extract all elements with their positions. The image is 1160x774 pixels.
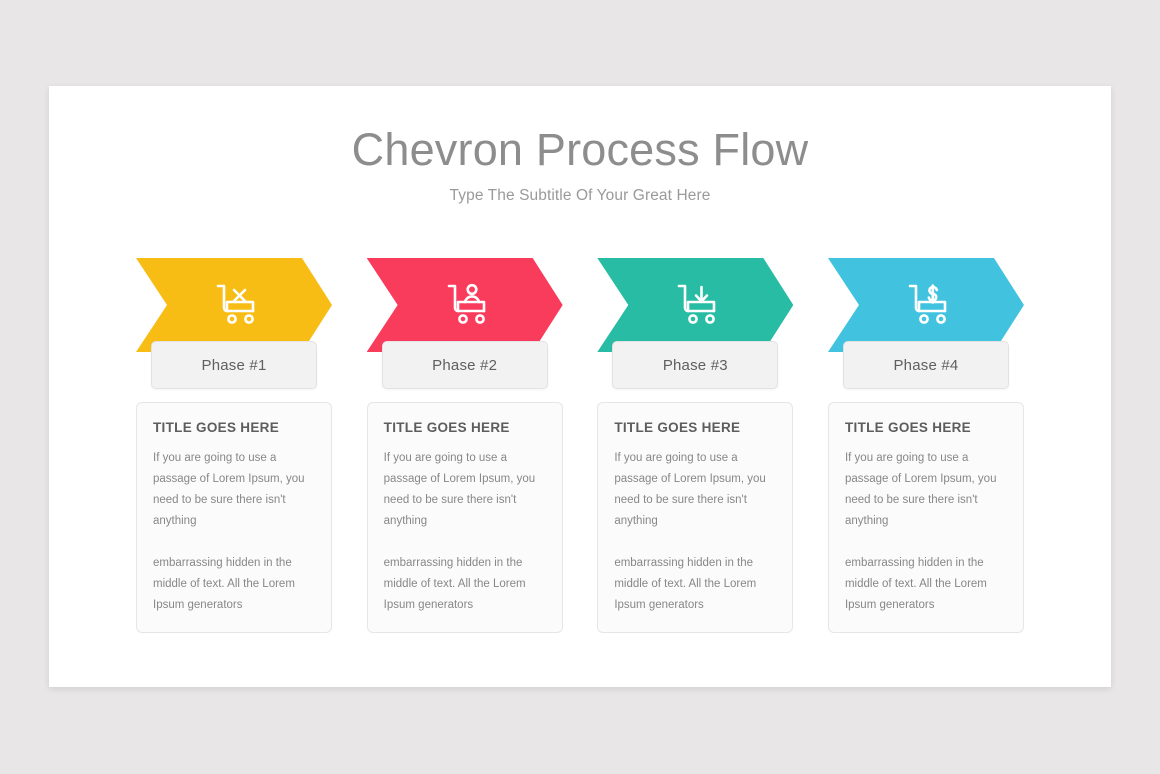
card-paragraph-1a: If you are going to use a passage of Lor… bbox=[153, 448, 315, 532]
phase-column-4: Phase #4 TITLE GOES HERE If you are goin… bbox=[828, 258, 1024, 633]
phase-label-2: Phase #2 bbox=[432, 357, 497, 374]
phase-card-2[interactable]: TITLE GOES HERE If you are going to use … bbox=[367, 402, 563, 633]
chevron-banner-3[interactable] bbox=[597, 258, 793, 352]
chevron-banner-2[interactable] bbox=[367, 258, 563, 352]
card-title-2: TITLE GOES HERE bbox=[384, 420, 546, 435]
phase-card-4[interactable]: TITLE GOES HERE If you are going to use … bbox=[828, 402, 1024, 633]
chevron-shape-3 bbox=[597, 258, 793, 352]
chevron-banner-1[interactable] bbox=[136, 258, 332, 352]
phase-card-1[interactable]: TITLE GOES HERE If you are going to use … bbox=[136, 402, 332, 633]
chevron-banner-4[interactable] bbox=[828, 258, 1024, 352]
card-paragraph-3b: embarrassing hidden in the middle of tex… bbox=[614, 553, 776, 616]
chevron-shape-4 bbox=[828, 258, 1024, 352]
phase-column-1: Phase #1 TITLE GOES HERE If you are goin… bbox=[136, 258, 332, 633]
chevron-shape-2 bbox=[367, 258, 563, 352]
phase-label-3: Phase #3 bbox=[663, 357, 728, 374]
card-title-4: TITLE GOES HERE bbox=[845, 420, 1007, 435]
card-paragraph-4a: If you are going to use a passage of Lor… bbox=[845, 448, 1007, 532]
card-paragraph-1b: embarrassing hidden in the middle of tex… bbox=[153, 553, 315, 616]
phase-box-4[interactable]: Phase #4 bbox=[843, 341, 1009, 389]
card-paragraph-3a: If you are going to use a passage of Lor… bbox=[614, 448, 776, 532]
card-title-3: TITLE GOES HERE bbox=[614, 420, 776, 435]
phase-column-2: Phase #2 TITLE GOES HERE If you are goin… bbox=[367, 258, 563, 633]
process-flow-columns: Phase #1 TITLE GOES HERE If you are goin… bbox=[136, 258, 1024, 633]
phase-label-1: Phase #1 bbox=[202, 357, 267, 374]
phase-box-1[interactable]: Phase #1 bbox=[151, 341, 317, 389]
page-title: Chevron Process Flow bbox=[49, 86, 1111, 176]
slide-canvas: Chevron Process Flow Type The Subtitle O… bbox=[49, 86, 1111, 687]
card-paragraph-4b: embarrassing hidden in the middle of tex… bbox=[845, 553, 1007, 616]
card-title-1: TITLE GOES HERE bbox=[153, 420, 315, 435]
phase-box-3[interactable]: Phase #3 bbox=[612, 341, 778, 389]
phase-card-3[interactable]: TITLE GOES HERE If you are going to use … bbox=[597, 402, 793, 633]
phase-box-2[interactable]: Phase #2 bbox=[382, 341, 548, 389]
card-paragraph-2b: embarrassing hidden in the middle of tex… bbox=[384, 553, 546, 616]
phase-column-3: Phase #3 TITLE GOES HERE If you are goin… bbox=[597, 258, 793, 633]
card-paragraph-2a: If you are going to use a passage of Lor… bbox=[384, 448, 546, 532]
chevron-shape-1 bbox=[136, 258, 332, 352]
page-subtitle: Type The Subtitle Of Your Great Here bbox=[49, 176, 1111, 205]
slide-header: Chevron Process Flow Type The Subtitle O… bbox=[49, 86, 1111, 205]
phase-label-4: Phase #4 bbox=[893, 357, 958, 374]
